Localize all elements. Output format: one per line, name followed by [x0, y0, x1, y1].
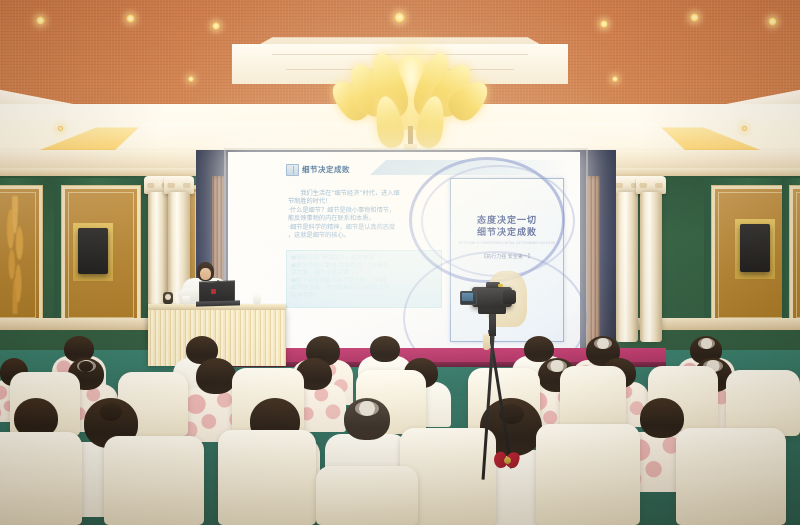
audience-chair: [316, 466, 418, 525]
audience-member-head: [370, 336, 400, 362]
audience-chair: [536, 424, 640, 525]
audience-chair: [0, 432, 82, 525]
audience-group: [0, 0, 800, 525]
audience-chair: [218, 430, 316, 525]
tripod-center-column: [489, 312, 496, 336]
audience-chair: [560, 366, 626, 428]
camcorder-accent-icon: [498, 284, 503, 287]
red-bow-hair-clip: [494, 452, 520, 469]
audience-chair: [676, 428, 786, 525]
audience-chair: [104, 436, 204, 525]
audience-member-head: [196, 358, 236, 394]
water-bottle: [483, 334, 490, 350]
conference-hall-photo: 细节决定成败 我们生活在“细节经济”时代，进入细节制胜的时代！·什么是细节？细节…: [0, 0, 800, 525]
bow-knot: [504, 457, 511, 464]
hair-net: [594, 338, 612, 349]
audience-chair: [726, 370, 800, 436]
hair-bun: [79, 361, 93, 372]
audience-member-head: [640, 398, 684, 438]
hair-net: [698, 338, 715, 349]
hair-net: [355, 401, 379, 416]
camcorder-lens-icon: [503, 290, 516, 304]
camcorder-lcd-image: [462, 293, 473, 301]
hair-bun: [100, 403, 122, 421]
